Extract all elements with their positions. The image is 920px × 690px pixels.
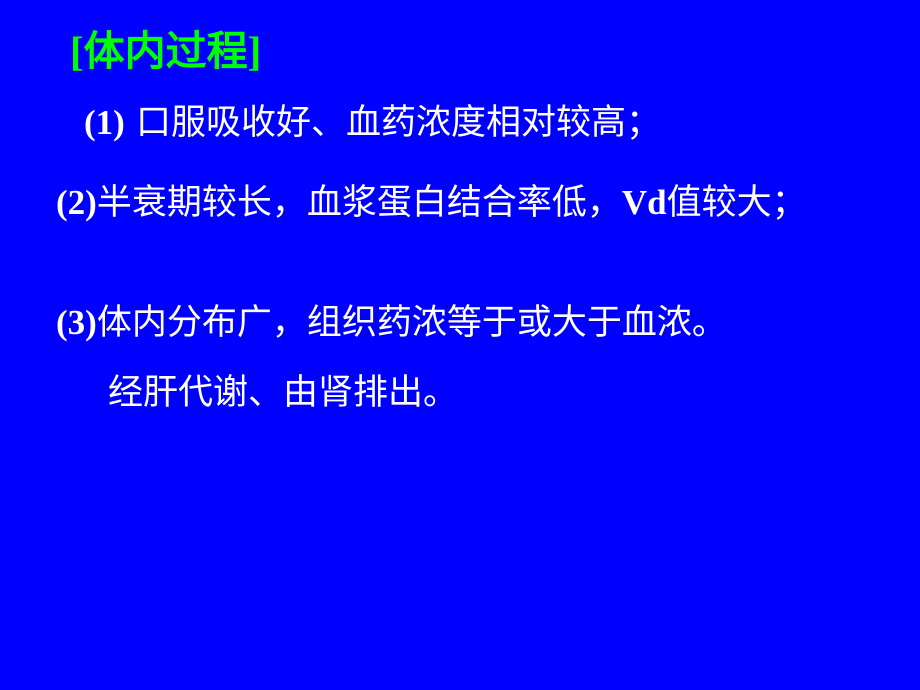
slide-canvas: [体内过程] (1) 口服吸收好、血药浓度相对较高； (2)半衰期较长，血浆蛋白…	[0, 0, 920, 690]
body-item-4-text: 经肝代谢、由肾排出。	[108, 373, 458, 413]
body-item-1-marker: (1)	[84, 103, 125, 142]
body-item-3: (3)体内分布广，组织药浓等于或大于血浓。	[56, 300, 890, 346]
body-item-2-marker: (2)	[56, 183, 97, 222]
body-item-1: (1) 口服吸收好、血药浓度相对较高；	[56, 100, 890, 146]
body-item-3-marker: (3)	[56, 303, 97, 342]
body-item-3-text: 体内分布广，组织药浓等于或大于血浓。	[97, 303, 727, 343]
body-item-2: (2)半衰期较长，血浆蛋白结合率低，Vd值较大；	[56, 180, 890, 226]
body-item-1-text: 口服吸收好、血药浓度相对较高；	[125, 103, 661, 143]
page-title: [体内过程]	[70, 28, 261, 75]
body-item-4: 经肝代谢、由肾排出。	[56, 370, 890, 416]
body-item-2-continuation: 值较大；	[667, 183, 807, 223]
body-item-2-text: 半衰期较长，血浆蛋白结合率低，	[97, 183, 622, 223]
body-item-2-latin-term: Vd	[622, 183, 667, 222]
